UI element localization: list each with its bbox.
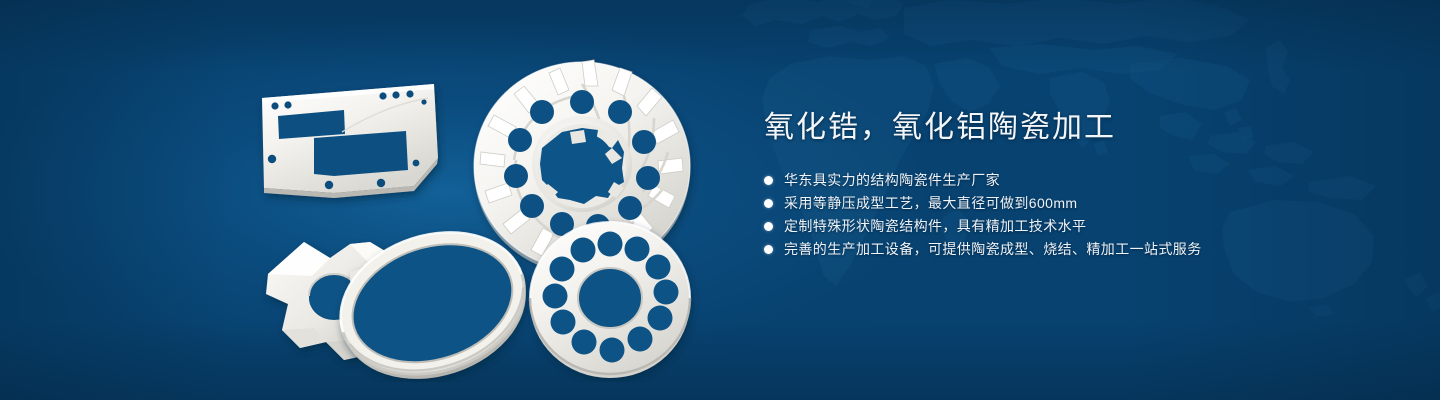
ceramic-perforated-disc-part: [530, 222, 690, 378]
banner-copy: 氧化锆，氧化铝陶瓷加工 华东具实力的结构陶瓷件生产厂家 采用等静压成型工艺，最大…: [764, 108, 1364, 261]
feature-text: 华东具实力的结构陶瓷件生产厂家: [784, 169, 1000, 192]
ceramic-parts-image: [238, 46, 708, 382]
bullet-dot-icon: [764, 245, 773, 254]
banner-headline: 氧化锆，氧化铝陶瓷加工: [764, 108, 1364, 148]
ceramic-plate-part: [262, 84, 438, 198]
feature-list: 华东具实力的结构陶瓷件生产厂家 采用等静压成型工艺，最大直径可做到600mm 定…: [764, 169, 1364, 261]
feature-text: 完善的生产加工设备，可提供陶瓷成型、烧结、精加工一站式服务: [784, 238, 1202, 261]
list-item: 完善的生产加工设备，可提供陶瓷成型、烧结、精加工一站式服务: [764, 238, 1364, 261]
feature-text: 采用等静压成型工艺，最大直径可做到600mm: [784, 192, 1077, 215]
list-item: 定制特殊形状陶瓷结构件，具有精加工技术水平: [764, 215, 1364, 238]
bullet-dot-icon: [764, 199, 773, 208]
bullet-dot-icon: [764, 176, 773, 185]
feature-text: 定制特殊形状陶瓷结构件，具有精加工技术水平: [784, 215, 1086, 238]
list-item: 华东具实力的结构陶瓷件生产厂家: [764, 169, 1364, 192]
list-item: 采用等静压成型工艺，最大直径可做到600mm: [764, 192, 1364, 215]
bullet-dot-icon: [764, 222, 773, 231]
hero-banner: 氧化锆，氧化铝陶瓷加工 华东具实力的结构陶瓷件生产厂家 采用等静压成型工艺，最大…: [0, 0, 1440, 400]
